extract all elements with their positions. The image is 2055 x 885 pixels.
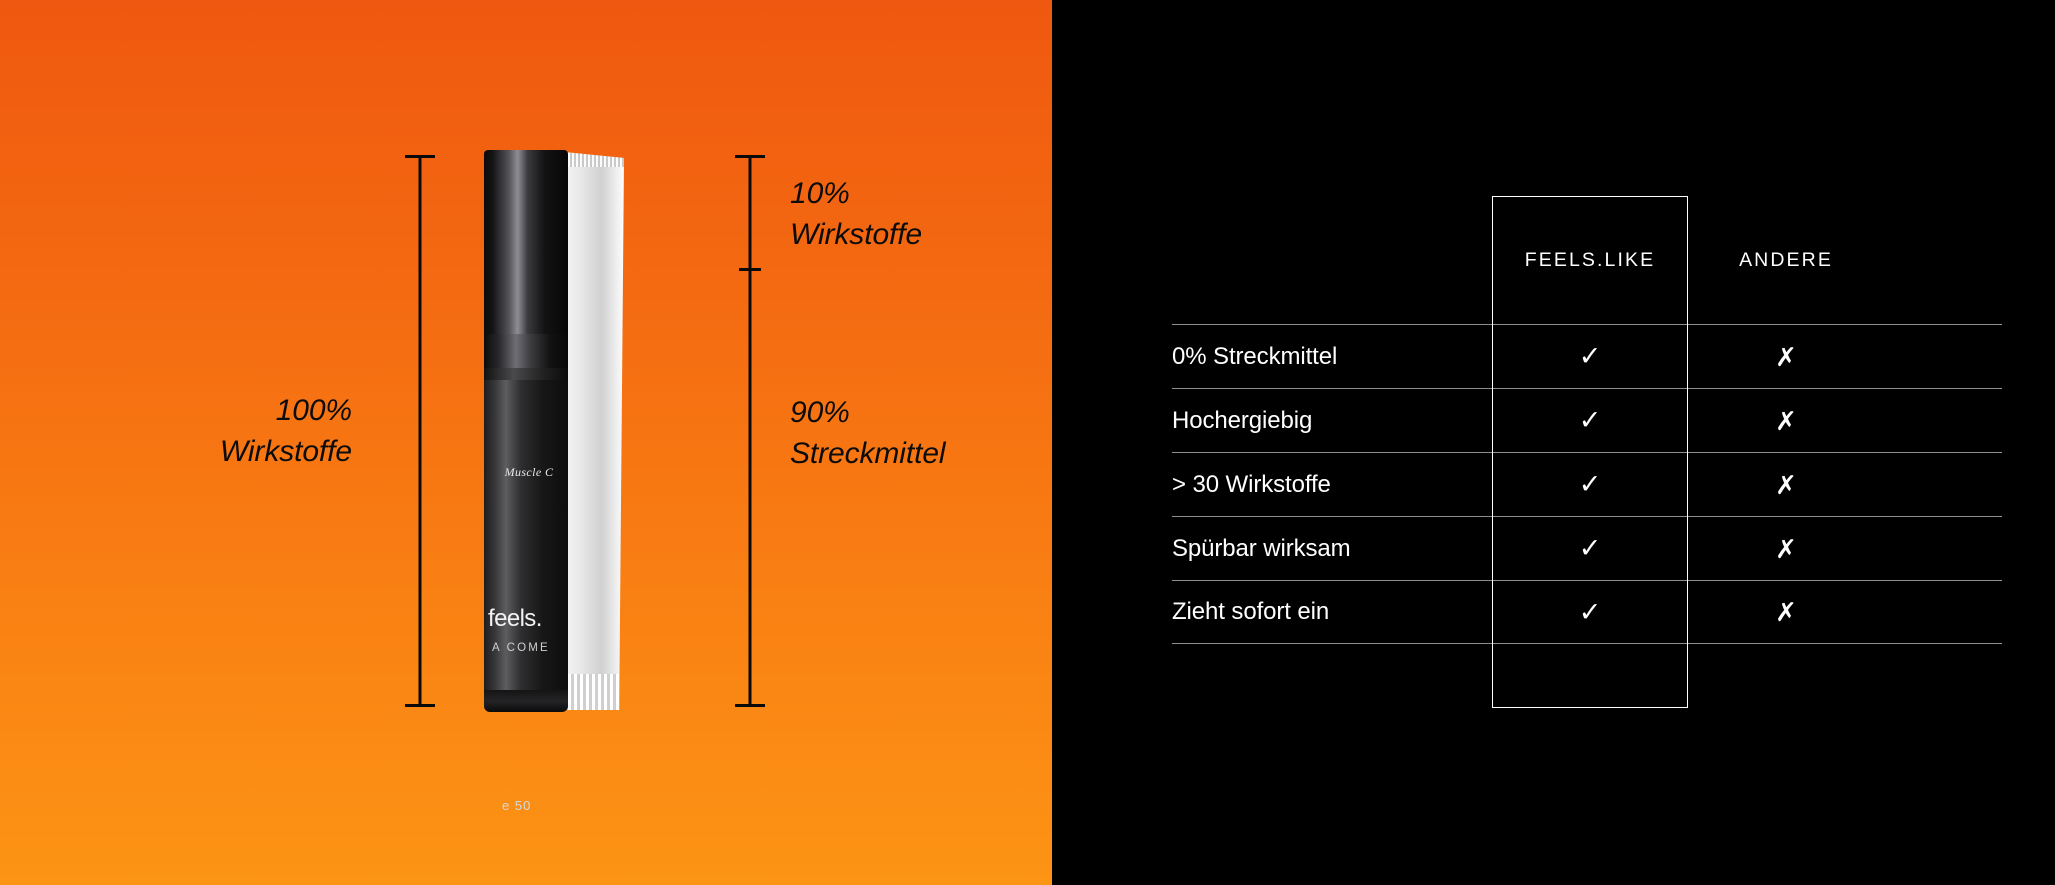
table-row: 0% Streckmittel ✓ ✗ — [1172, 324, 2002, 388]
row-mark-feels-like: ✓ — [1492, 535, 1688, 562]
label-unit: Wirkstoffe — [790, 214, 922, 255]
label-value: 10% — [790, 173, 922, 214]
label-unit: Streckmittel — [790, 433, 946, 474]
bracket-cap-bottom — [405, 704, 435, 707]
bracket-mid-tick — [739, 268, 761, 271]
measurement-bracket-left — [405, 155, 435, 707]
product-visual-panel: Muscle C feels. A COME e 50 100% Wirksto… — [0, 0, 1052, 885]
table-row: Hochergiebig ✓ ✗ — [1172, 388, 2002, 452]
promo-comparison-screen: Muscle C feels. A COME e 50 100% Wirksto… — [0, 0, 2055, 885]
product-image: Muscle C feels. A COME e 50 — [484, 150, 624, 710]
bracket-stem — [419, 155, 422, 707]
label-unit: Wirkstoffe — [12, 431, 352, 472]
label-10-percent-wirkstoffe: 10% Wirkstoffe — [790, 173, 922, 256]
table-header-feels-like: FEELS.LIKE — [1492, 249, 1688, 272]
label-value: 90% — [790, 392, 946, 433]
label-100-percent-wirkstoffe: 100% Wirkstoffe — [12, 390, 352, 473]
bottle-shoulder — [484, 368, 568, 380]
bottle-cap — [484, 150, 568, 336]
table-row: > 30 Wirkstoffe ✓ ✗ — [1172, 452, 2002, 516]
label-90-percent-streckmittel: 90% Streckmittel — [790, 392, 946, 475]
row-mark-feels-like: ✓ — [1492, 407, 1688, 434]
product-volume-label: e 50 — [502, 798, 572, 813]
table-header-row: FEELS.LIKE ANDERE — [1172, 196, 2002, 324]
row-feature-label: Hochergiebig — [1172, 407, 1492, 435]
row-mark-feels-like: ✓ — [1492, 599, 1688, 626]
table-footer-spacer — [1172, 644, 2002, 694]
row-mark-feels-like: ✓ — [1492, 343, 1688, 370]
product-brand-label: feels. — [488, 605, 580, 633]
comparison-panel: FEELS.LIKE ANDERE 0% Streckmittel ✓ ✗ Ho… — [1052, 0, 2055, 885]
label-value: 100% — [12, 390, 352, 431]
product-tagline-label: A COME — [492, 642, 580, 654]
row-mark-andere: ✗ — [1688, 408, 1884, 434]
row-feature-label: 0% Streckmittel — [1172, 343, 1492, 371]
table-header-andere: ANDERE — [1688, 249, 1884, 272]
bottle-collar — [484, 334, 568, 370]
comparison-table: FEELS.LIKE ANDERE 0% Streckmittel ✓ ✗ Ho… — [1172, 196, 2002, 694]
row-mark-andere: ✗ — [1688, 344, 1884, 370]
bracket-cap-bottom — [735, 704, 765, 707]
row-mark-andere: ✗ — [1688, 536, 1884, 562]
row-feature-label: Zieht sofort ein — [1172, 598, 1492, 626]
product-label-serif-line: Muscle C — [490, 465, 568, 480]
row-feature-label: Spürbar wirksam — [1172, 535, 1492, 563]
row-feature-label: > 30 Wirkstoffe — [1172, 471, 1492, 499]
table-row: Spürbar wirksam ✓ ✗ — [1172, 516, 2002, 580]
row-mark-andere: ✗ — [1688, 599, 1884, 625]
row-mark-feels-like: ✓ — [1492, 471, 1688, 498]
measurement-bracket-right — [735, 155, 765, 707]
row-mark-andere: ✗ — [1688, 472, 1884, 498]
table-row: Zieht sofort ein ✓ ✗ — [1172, 580, 2002, 644]
bottle-base — [484, 690, 568, 712]
bracket-stem — [749, 155, 752, 707]
